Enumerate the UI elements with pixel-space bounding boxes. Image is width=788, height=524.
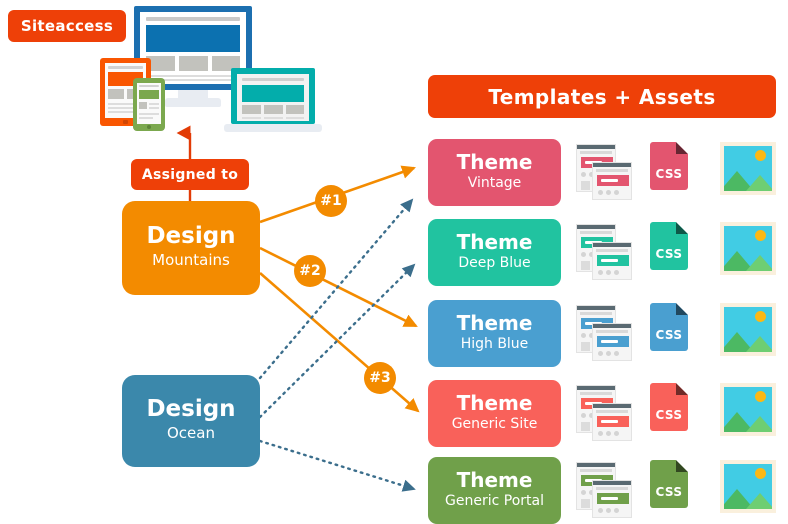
assigned-to-badge: Assigned to	[131, 159, 249, 190]
design-title: Design	[146, 224, 235, 249]
connector-label-2: #2	[294, 255, 326, 287]
connector-ocean-vintage	[260, 200, 412, 378]
templates-assets-header: Templates + Assets	[428, 75, 776, 118]
connector-ocean-genericportal	[260, 441, 414, 489]
design-box-mountains[interactable]: Design Mountains	[122, 201, 260, 295]
diagram-canvas: Siteaccess Assigned to Templates + Asset…	[0, 0, 788, 520]
design-box-ocean[interactable]: Design Ocean	[122, 375, 260, 467]
siteaccess-badge: Siteaccess	[8, 10, 126, 42]
design-subtitle: Ocean	[167, 422, 215, 445]
connector-label-1: #1	[315, 185, 347, 217]
connector-label-3: #3	[364, 362, 396, 394]
design-subtitle: Mountains	[152, 249, 230, 272]
connector-3	[260, 273, 418, 411]
design-title: Design	[146, 397, 235, 422]
